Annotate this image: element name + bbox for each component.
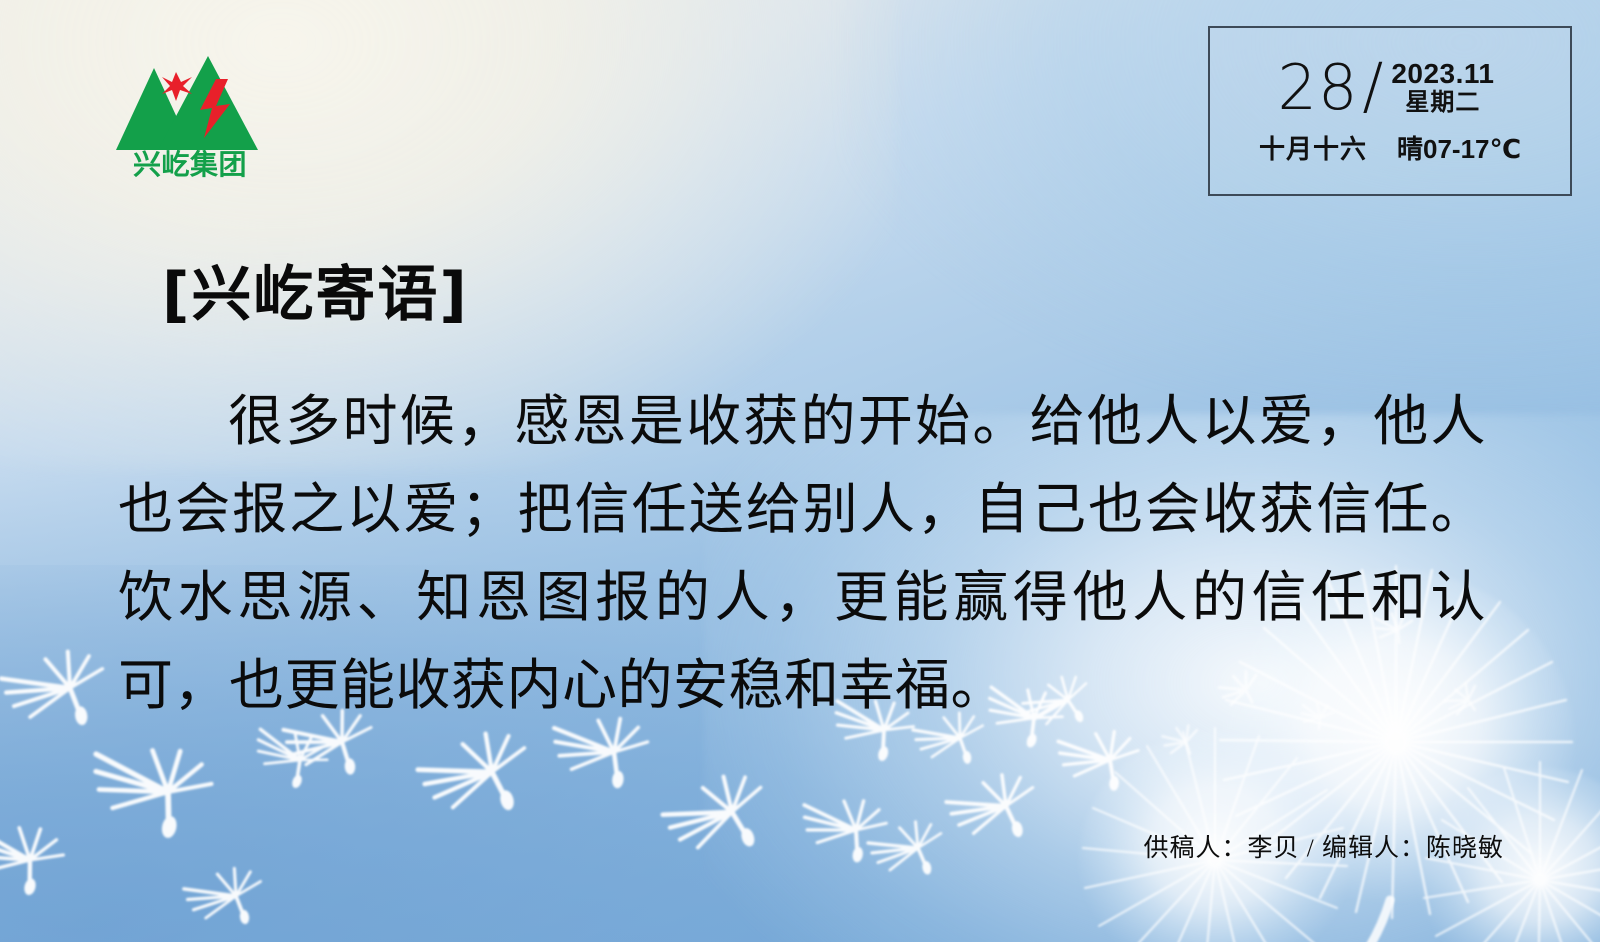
poster-canvas: 兴屹集团 28 / 2023.11 星期二 十月十六 晴07-17℃ [兴屹寄语… [0, 0, 1600, 942]
date-slash: / [1362, 55, 1383, 117]
date-card-top-row: 28 / 2023.11 星期二 [1210, 57, 1570, 121]
date-year-month: 2023.11 [1391, 58, 1494, 89]
date-card: 28 / 2023.11 星期二 十月十六 晴07-17℃ [1208, 26, 1572, 196]
company-logo: 兴屹集团 [108, 46, 272, 178]
date-lunar: 十月十六 [1259, 129, 1367, 166]
page-title: [兴屹寄语] [162, 246, 469, 333]
body-text: 很多时候，感恩是收获的开始。给他人以爱，他人也会报之以爱；把信任送给别人，自己也… [118, 378, 1486, 730]
date-card-bottom-row: 十月十六 晴07-17℃ [1210, 129, 1570, 166]
date-day: 28 [1278, 57, 1359, 119]
date-year-month-block: 2023.11 星期二 [1391, 58, 1494, 116]
credits-line: 供稿人：李贝 / 编辑人：陈晓敏 [1144, 828, 1504, 864]
date-weekday: 星期二 [1405, 90, 1480, 117]
body-paragraph: 很多时候，感恩是收获的开始。给他人以爱，他人也会报之以爱；把信任送给别人，自己也… [118, 378, 1486, 730]
logo-company-text: 兴屹集团 [133, 148, 247, 178]
weather-text: 晴07-17℃ [1397, 129, 1521, 166]
